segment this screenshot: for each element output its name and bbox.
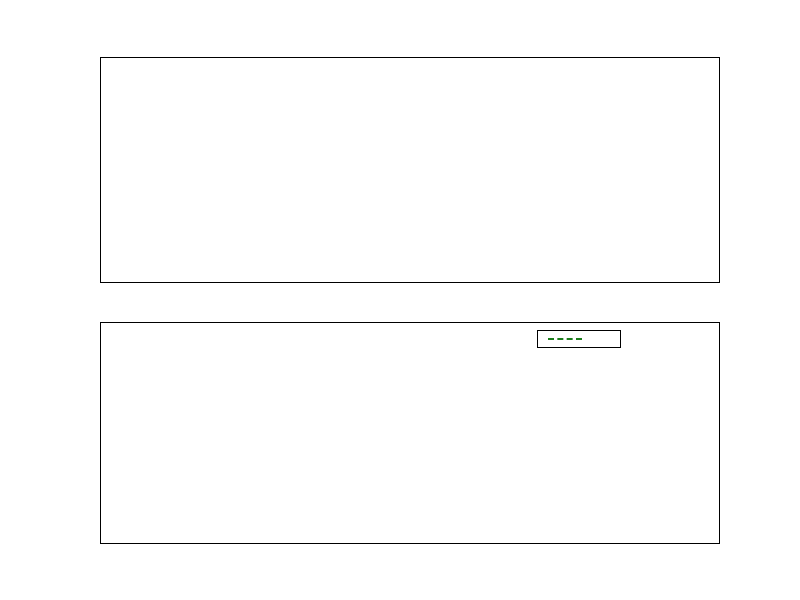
top-x-tick-labels: [100, 287, 720, 307]
top-plot-area: [100, 57, 720, 283]
bottom-y-tick-labels: [42, 322, 94, 544]
bottom-plot-area: [100, 322, 720, 544]
cumulative-curve: [101, 323, 719, 543]
legend[interactable]: [537, 330, 621, 348]
top-y-tick-labels: [42, 57, 94, 283]
bottom-x-tick-labels: [100, 548, 720, 568]
figure: [0, 0, 800, 600]
mag-limit-legend-swatch-icon: [548, 338, 582, 340]
